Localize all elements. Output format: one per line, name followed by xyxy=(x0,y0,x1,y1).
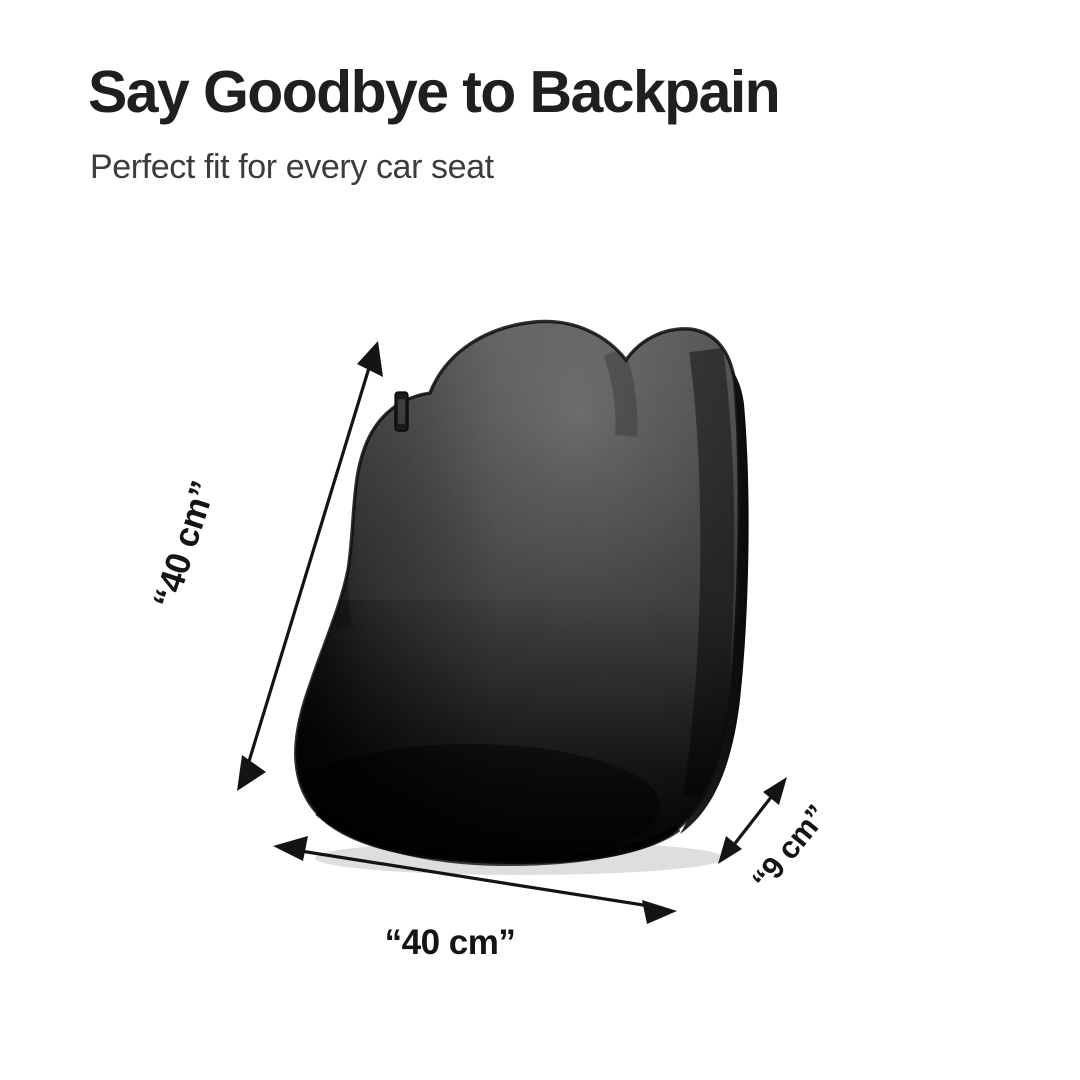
width-dimension-label: “40 cm” xyxy=(385,923,516,963)
product-dimension-graphic: Say Goodbye to Backpain Perfect fit for … xyxy=(0,0,1080,1080)
product-body xyxy=(280,300,760,880)
brand-tag xyxy=(395,392,408,431)
product-illustration xyxy=(0,0,1080,1080)
product-stage xyxy=(0,0,1080,1080)
